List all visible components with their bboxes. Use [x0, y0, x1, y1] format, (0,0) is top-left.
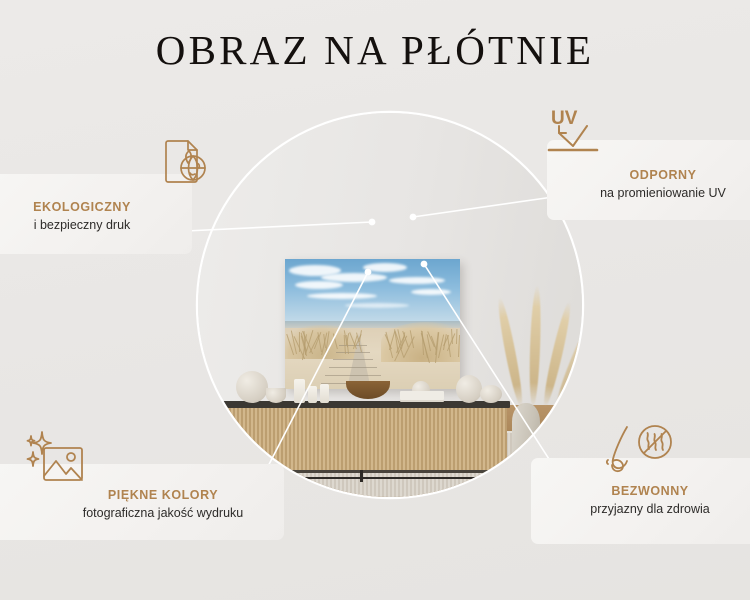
- product-photo-circle: [198, 113, 582, 497]
- feature-subtitle-colors: fotograficzna jakość wydruku: [48, 505, 278, 522]
- document-globe-leaf-icon: [155, 135, 213, 198]
- room-scene: [198, 113, 582, 497]
- smell-wave-3: [661, 434, 663, 450]
- decor-candle-2: [308, 386, 317, 403]
- decor-bowl-small: [266, 388, 286, 403]
- smell-wave-2: [654, 434, 656, 450]
- decor-vase-large: [236, 371, 268, 403]
- nose-no-smell-icon: [605, 421, 679, 484]
- decor-vase-right-2: [480, 385, 502, 403]
- feature-subtitle-odor: przyjazny dla zdrowia: [545, 501, 750, 518]
- sparkle-medium: [28, 452, 39, 466]
- decor-books: [400, 391, 444, 400]
- feature-subtitle-eco: i bezpieczny druk: [0, 217, 178, 234]
- smell-wave-1: [647, 433, 649, 449]
- nostril: [607, 460, 608, 464]
- canvas-artwork: [285, 259, 460, 389]
- feature-subtitle-uv: na promieniowanie UV: [563, 185, 750, 202]
- sparkle-large: [33, 432, 51, 454]
- nose-bridge: [613, 427, 627, 468]
- decor-candle-3: [320, 384, 329, 403]
- uv-reflection-icon: UV: [543, 106, 609, 167]
- decor-candle-1: [294, 379, 305, 403]
- picture-sparkle-icon: [24, 430, 88, 493]
- uv-icon-label: UV: [551, 108, 578, 129]
- feature-title-eco: EKOLOGICZNY: [0, 200, 178, 215]
- feature-title-odor: BEZWONNY: [545, 484, 750, 499]
- sparkle-small: [28, 436, 35, 446]
- feature-title-uv: ODPORNY: [563, 168, 750, 183]
- decor-vase-right-1: [456, 375, 482, 403]
- infographic-canvas: OBRAZ NA PŁÓTNIE: [0, 0, 750, 600]
- page-title: OBRAZ NA PŁÓTNIE: [0, 28, 750, 73]
